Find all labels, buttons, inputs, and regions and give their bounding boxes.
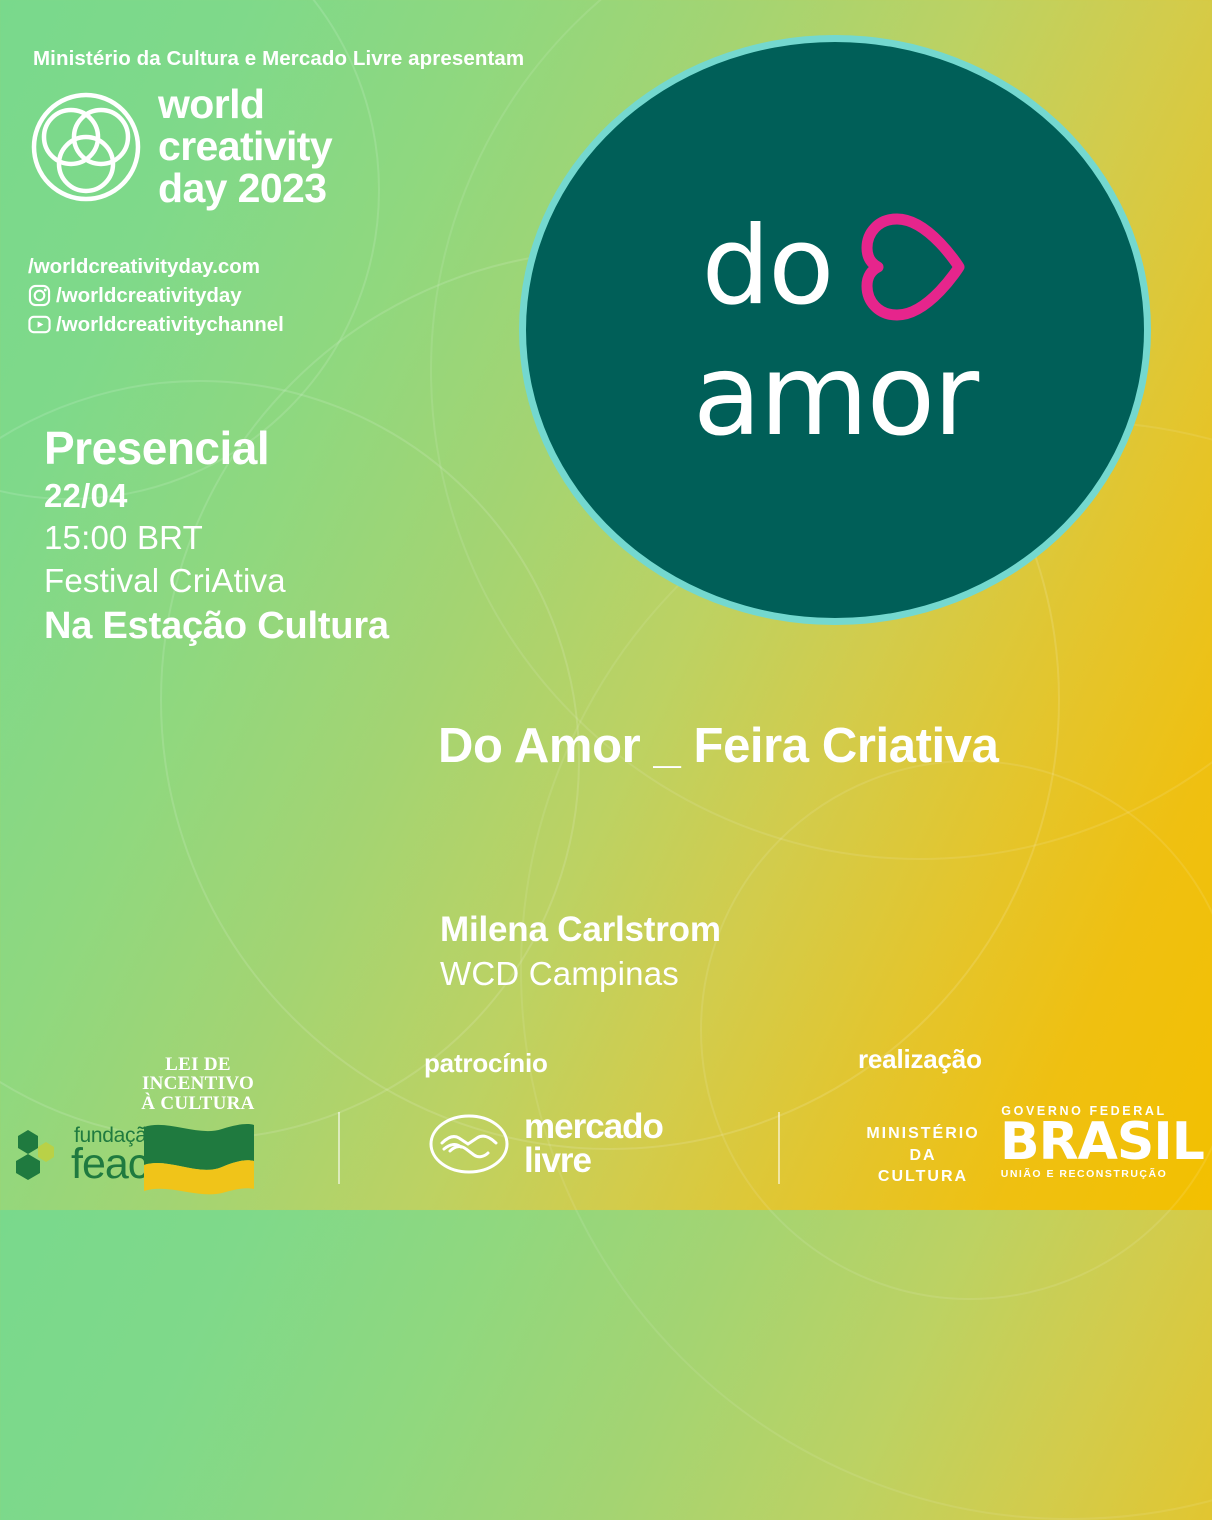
presenter-line: Ministério da Cultura e Mercado Livre ap… bbox=[33, 47, 524, 71]
three-overlapping-circles-icon bbox=[30, 91, 142, 203]
speaker-org: WCD Campinas bbox=[440, 953, 721, 996]
social-links: /worldcreativityday.com /worldcreativity… bbox=[28, 252, 284, 339]
lei-line-1: LEI DE bbox=[138, 1055, 258, 1074]
youtube-label: /worldcreativitychannel bbox=[56, 313, 284, 337]
mercado-livre-wordmark: mercado livre bbox=[524, 1110, 663, 1177]
mercado-livre-logo: mercado livre bbox=[428, 1110, 663, 1177]
brasil-wordmark: BRASIL bbox=[1000, 1118, 1168, 1167]
social-link-instagram[interactable]: /worldcreativityday bbox=[28, 281, 284, 310]
lei-line-3: À CULTURA bbox=[138, 1094, 258, 1113]
footer-divider bbox=[778, 1112, 780, 1184]
event-festival: Festival CriAtiva bbox=[44, 560, 389, 603]
minc-line-2: CULTURA bbox=[858, 1166, 988, 1188]
do-amor-badge: do amor bbox=[519, 35, 1151, 625]
feac-logo: fundação feac bbox=[8, 1126, 158, 1185]
lei-de-incentivo-logo: LEI DE INCENTIVO À CULTURA bbox=[138, 1055, 258, 1200]
organizer-kicker: realização bbox=[858, 1044, 982, 1075]
badge-word-amor: amor bbox=[693, 340, 977, 452]
ml-line-2: livre bbox=[524, 1144, 663, 1178]
event-details: Presencial 22/04 15:00 BRT Festival CriA… bbox=[44, 423, 389, 651]
minc-line-1: MINISTÉRIO DA bbox=[858, 1123, 988, 1166]
social-link-website[interactable]: /worldcreativityday.com bbox=[28, 252, 284, 281]
youtube-icon bbox=[28, 313, 51, 336]
lei-line-2: INCENTIVO bbox=[138, 1074, 258, 1093]
social-link-youtube[interactable]: /worldcreativitychannel bbox=[28, 310, 284, 339]
background-watermark-circle bbox=[700, 760, 1212, 1300]
handshake-icon bbox=[428, 1113, 510, 1175]
lei-text: LEI DE INCENTIVO À CULTURA bbox=[138, 1055, 258, 1113]
governo-federal-logo: GOVERNO FEDERAL BRASIL UNIÃO E RECONSTRU… bbox=[1000, 1104, 1168, 1180]
event-venue: Na Estação Cultura bbox=[44, 603, 389, 651]
website-label: /worldcreativityday.com bbox=[28, 255, 260, 279]
world-creativity-day-logo: world creativity day 2023 bbox=[30, 84, 332, 209]
instagram-icon bbox=[28, 284, 51, 307]
event-time: 15:00 BRT bbox=[44, 517, 389, 560]
footer-divider bbox=[338, 1112, 340, 1184]
brasil-slogan: UNIÃO E RECONSTRUÇÃO bbox=[1000, 1168, 1168, 1180]
heart-outline-icon bbox=[850, 208, 978, 326]
event-date: 22/04 bbox=[44, 475, 389, 518]
wcd-word-1: world bbox=[158, 84, 332, 126]
speaker-name: Milena Carlstrom bbox=[440, 908, 721, 953]
feac-hexagons-icon bbox=[8, 1128, 62, 1182]
event-format: Presencial bbox=[44, 423, 389, 475]
speaker-block: Milena Carlstrom WCD Campinas bbox=[440, 908, 721, 996]
wcd-word-2: creativity bbox=[158, 126, 332, 168]
wcd-word-3: day 2023 bbox=[158, 168, 332, 210]
wcd-wordmark: world creativity day 2023 bbox=[158, 84, 332, 209]
instagram-label: /worldcreativityday bbox=[56, 284, 242, 308]
brazil-culture-flag-icon bbox=[138, 1117, 258, 1195]
ministerio-da-cultura-logo: MINISTÉRIO DA CULTURA bbox=[858, 1123, 988, 1188]
sponsor-kicker: patrocínio bbox=[424, 1048, 548, 1079]
page-title: Do Amor _ Feira Criativa bbox=[438, 718, 998, 774]
badge-word-do: do bbox=[702, 213, 833, 321]
ml-line-1: mercado bbox=[524, 1110, 663, 1144]
